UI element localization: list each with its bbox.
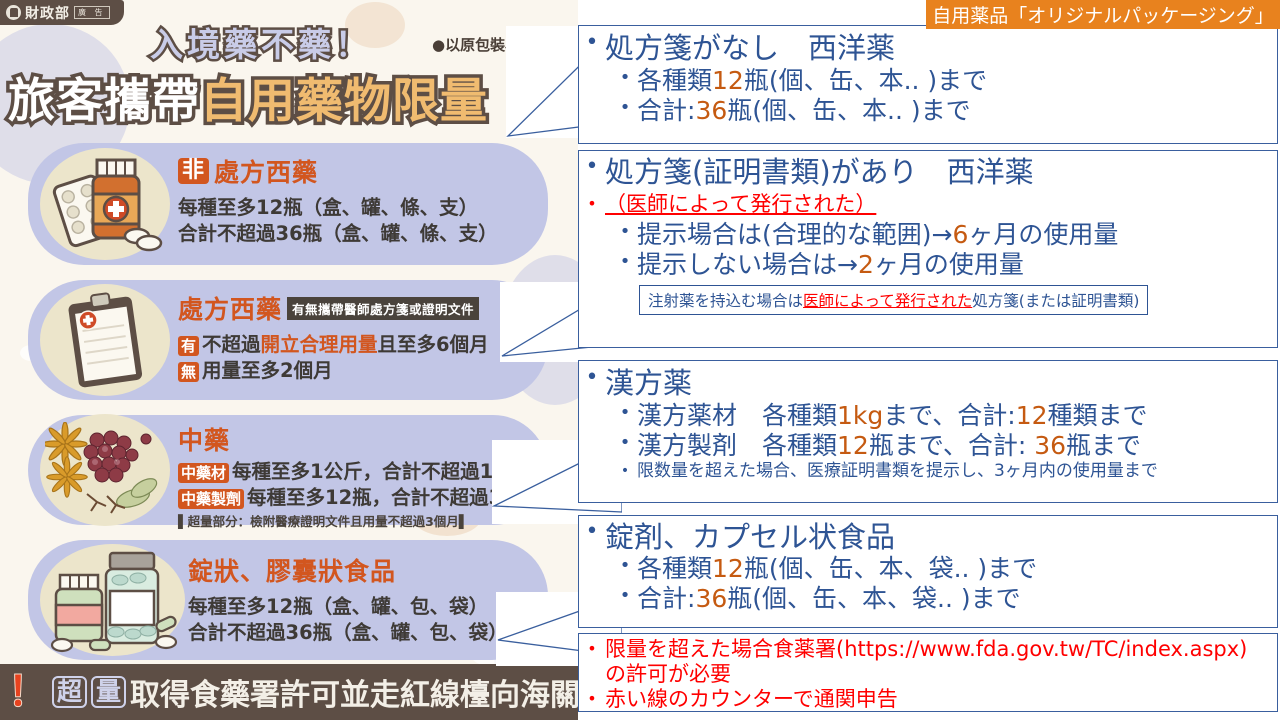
chip-you: 有: [178, 336, 199, 356]
callout-item-text: 漢方製剤 各種類12瓶まで、合計: 36瓶まで: [637, 431, 1141, 461]
row-pre: 用量至多2個月: [202, 359, 333, 382]
bullet-icon: •: [613, 220, 637, 244]
card-title-text: 錠狀、膠囊狀食品: [188, 552, 396, 588]
callout-title-row: • 漢方薬: [579, 367, 1277, 399]
callout-subnote: 注射薬を持込む場合は医師によって発行された処方箋(または証明書類): [639, 285, 1148, 315]
row-hot: 開立合理用量: [261, 333, 378, 356]
callout-item-text: 合計:36瓶(個、缶、本.. )まで: [637, 96, 971, 126]
callout-title-row: • 処方箋がなし 西洋薬: [579, 32, 1277, 64]
row-pre: 不超過: [202, 333, 261, 356]
infographic-slide: 財政部 廣 告 入境藥不藥！ ●以原包裝為限 旅客攜帶自用藥物限量: [0, 0, 1280, 720]
callout-small-item: • 限数量を超えた場合、医療証明書類を提示し、3ヶ月内の使用量まで: [579, 461, 1277, 482]
chip-over: 超: [52, 676, 87, 708]
callout-title-row: • 処方箋(証明書類)があり 西洋薬: [579, 156, 1277, 188]
callout-over-limit-warning: • 限量を超えた場合食薬署(https://www.fda.gov.tw/TC/…: [578, 633, 1278, 712]
exclamation-icon: ！: [8, 674, 48, 710]
chip-herb-preparation: 中藥製劑: [178, 489, 244, 509]
bullet-icon: •: [579, 192, 605, 216]
card-title: 錠狀、膠囊狀食品: [188, 552, 538, 588]
warning-row: の許可が必要: [579, 662, 1277, 687]
warning-text: 限量を超えた場合食薬署(https://www.fda.gov.tw/TC/in…: [605, 637, 1247, 662]
bullet-icon: •: [579, 687, 605, 711]
bullet-icon: •: [613, 66, 637, 90]
card-body: 處方西藥 有無攜帶醫師處方箋或證明文件 有不超過開立合理用量且至多6個月 無用量…: [178, 290, 538, 383]
callout-title: 漢方薬: [605, 367, 692, 399]
callout-no-prescription-western: • 処方箋がなし 西洋薬 • 各種類12瓶(個、缶、本.. )まで • 合計:3…: [578, 25, 1278, 144]
card-body: 中藥 中藥材每種至多1公斤，合計不超過12種 中藥製劑每種至多12瓶，合計不超過…: [178, 421, 538, 530]
bullet-icon: •: [613, 96, 637, 120]
card-title: 非 處方西藥: [178, 153, 538, 189]
callout-item: • 提示しない場合は→2ヶ月の使用量: [579, 250, 1277, 280]
callout-item: • 漢方製剤 各種類12瓶まで、合計: 36瓶まで: [579, 431, 1277, 461]
callout-item-text: 提示しない場合は→2ヶ月の使用量: [637, 250, 1024, 280]
bullet-icon: •: [613, 401, 637, 425]
callout-item-text: 漢方薬材 各種類1kgまで、合計:12種類まで: [637, 401, 1148, 431]
ministry-tag: 財政部 廣 告: [0, 0, 124, 25]
card-line: 合計不超過36瓶（盒、罐、包、袋）: [188, 620, 538, 646]
card-note: ▌超量部分：檢附醫療證明文件且用量不超過3個月▌: [178, 511, 538, 530]
pill-bottle-icon: [40, 148, 170, 260]
card-title-text: 處方西藥: [214, 153, 318, 189]
warning-text: の許可が必要: [605, 662, 731, 687]
bullet-icon: •: [613, 584, 637, 608]
ad-label: 廣 告: [74, 6, 110, 19]
callout-item-text: 各種類12瓶(個、缶、本.. )まで: [637, 66, 987, 96]
callout-item: • 提示場合は(合理的な範囲)→6ヶ月の使用量: [579, 220, 1277, 250]
headline-small: 入境藥不藥！: [150, 18, 372, 66]
bullet-icon: •: [613, 431, 637, 455]
callout-item-text: 提示場合は(合理的な範囲)→6ヶ月の使用量: [637, 220, 1118, 250]
chip-amount: 量: [91, 676, 126, 708]
callout-item: • 漢方薬材 各種類1kgまで、合計:12種類まで: [579, 401, 1277, 431]
footer-warning-band: ！ 超 量 取得食藥署許可並走紅線檯向海關申報: [0, 664, 578, 720]
card-row: 中藥材每種至多1公斤，合計不超過12種: [178, 459, 538, 485]
callout-item-text: 合計:36瓶(個、缶、本、袋.. )まで: [637, 584, 1021, 614]
row-post: 且至多6個月: [378, 333, 489, 356]
card-chinese-medicine: 中藥 中藥材每種至多1公斤，合計不超過12種 中藥製劑每種至多12瓶，合計不超過…: [28, 415, 548, 525]
card-line: 每種至多12瓶（盒、罐、包、袋）: [188, 594, 538, 620]
callout-kampo-medicine: • 漢方薬 • 漢方薬材 各種類1kgまで、合計:12種類まで • 漢方製剤 各…: [578, 360, 1278, 503]
ministry-seal-icon: [6, 5, 21, 20]
callout-item: • 合計:36瓶(個、缶、本、袋.. )まで: [579, 584, 1277, 614]
callout-red-row: • （医師によって発行された）: [579, 192, 1277, 217]
poster-panel: 財政部 廣 告 入境藥不藥！ ●以原包裝為限 旅客攜帶自用藥物限量: [0, 0, 578, 720]
bullet-icon: •: [613, 554, 637, 578]
card-non-prescription: 非 處方西藥 每種至多12瓶（盒、罐、條、支） 合計不超過36瓶（盒、罐、條、支…: [28, 143, 548, 265]
callout-title: 処方箋(証明書類)があり 西洋薬: [605, 156, 1034, 188]
callout-small-text: 限数量を超えた場合、医療証明書類を提示し、3ヶ月内の使用量まで: [637, 461, 1158, 482]
card-row: 有不超過開立合理用量且至多6個月: [178, 332, 538, 358]
bullet-icon: •: [579, 367, 605, 389]
ministry-name: 財政部: [25, 3, 70, 23]
callout-title: 錠剤、カプセル状食品: [605, 521, 895, 553]
callout-item: • 各種類12瓶(個、缶、本、袋.. )まで: [579, 554, 1277, 584]
bullet-icon: •: [579, 32, 605, 54]
prescription-clipboard-icon: [40, 284, 170, 396]
callout-item: • 各種類12瓶(個、缶、本.. )まで: [579, 66, 1277, 96]
card-title-text: 中藥: [178, 421, 230, 457]
headline-main-white: 旅客攜帶: [8, 74, 200, 129]
herbs-icon: [40, 414, 170, 526]
callout-title-row: • 錠剤、カプセル状食品: [579, 521, 1277, 553]
card-title-text: 處方西藥: [178, 290, 282, 326]
headline-main: 旅客攜帶自用藥物限量: [8, 62, 488, 131]
card-body: 非 處方西藥 每種至多12瓶（盒、罐、條、支） 合計不超過36瓶（盒、罐、條、支…: [178, 153, 538, 246]
callout-red-text: （医師によって発行された）: [605, 192, 876, 217]
card-row: 無用量至多2個月: [178, 358, 538, 384]
card-title: 處方西藥 有無攜帶醫師處方箋或證明文件: [178, 290, 538, 326]
chip-herb-material: 中藥材: [178, 463, 229, 483]
card-line: 每種至多12瓶（盒、罐、條、支）: [178, 195, 538, 221]
bullet-icon: •: [613, 461, 637, 482]
orange-badge: 自用薬品「オリジナルパッケージング」: [926, 0, 1280, 29]
callout-item-text: 各種類12瓶(個、缶、本、袋.. )まで: [637, 554, 1037, 584]
card-row: 中藥製劑每種至多12瓶，合計不超過36瓶: [178, 485, 538, 511]
footer-text: 取得食藥署許可並走紅線檯向海關申報: [130, 670, 578, 714]
bullet-icon: •: [579, 637, 605, 661]
supplement-bottles-icon: [40, 544, 185, 656]
chip-fei: 非: [178, 158, 209, 184]
warning-text: 赤い線のカウンターで通関申告: [605, 687, 898, 712]
card-line: 合計不超過36瓶（盒、罐、條、支）: [178, 221, 538, 247]
callout-item: • 合計:36瓶(個、缶、本.. )まで: [579, 96, 1277, 126]
row-text: 每種至多1公斤，合計不超過12種: [232, 460, 526, 483]
bullet-icon: •: [579, 521, 605, 543]
card-tablet-capsule-food: 錠狀、膠囊狀食品 每種至多12瓶（盒、罐、包、袋） 合計不超過36瓶（盒、罐、包…: [28, 540, 548, 660]
warning-row: • 赤い線のカウンターで通関申告: [579, 687, 1277, 712]
headline-main-orange: 自用藥物限量: [200, 74, 488, 129]
callout-title: 処方箋がなし 西洋薬: [605, 32, 895, 64]
callout-tablet-capsule-food: • 錠剤、カプセル状食品 • 各種類12瓶(個、缶、本、袋.. )まで • 合計…: [578, 515, 1278, 628]
card-body: 錠狀、膠囊狀食品 每種至多12瓶（盒、罐、包、袋） 合計不超過36瓶（盒、罐、包…: [188, 552, 538, 645]
bullet-icon: •: [613, 250, 637, 274]
card-prescription: 處方西藥 有無攜帶醫師處方箋或證明文件 有不超過開立合理用量且至多6個月 無用量…: [28, 280, 548, 400]
warning-row: • 限量を超えた場合食薬署(https://www.fda.gov.tw/TC/…: [579, 637, 1277, 662]
card-tag: 有無攜帶醫師處方箋或證明文件: [287, 297, 479, 320]
chip-wu: 無: [178, 362, 199, 382]
callout-with-prescription-western: • 処方箋(証明書類)があり 西洋薬 • （医師によって発行された） • 提示場…: [578, 150, 1278, 348]
card-title: 中藥: [178, 421, 538, 457]
bullet-icon: •: [579, 156, 605, 178]
